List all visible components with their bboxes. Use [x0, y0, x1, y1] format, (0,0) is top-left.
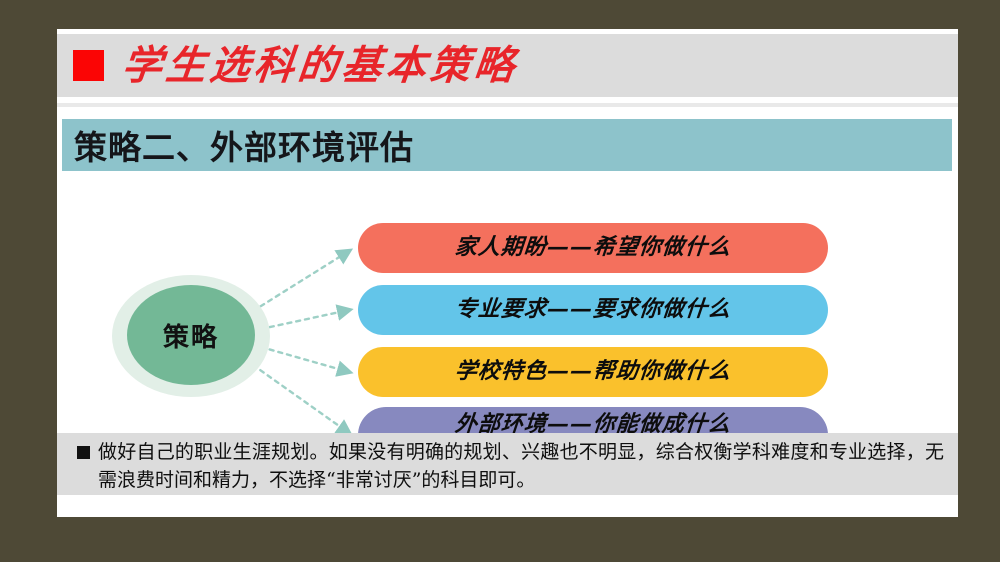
section-subtitle-text: 策略二、外部环境评估	[74, 121, 414, 169]
slide-frame: 学生选科的基本策略 策略二、外部环境评估	[0, 0, 1000, 562]
section-subtitle-bar: 策略二、外部环境评估	[62, 119, 952, 171]
branch-label: 学校特色——帮助你做什么	[454, 360, 732, 383]
red-square-bullet-icon	[73, 50, 104, 81]
center-node-strategy[interactable]: 策略	[127, 285, 255, 385]
footer-note-text: 做好自己的职业生涯规划。如果没有明确的规划、兴趣也不明显，综合权衡学科难度和专业…	[98, 433, 958, 494]
black-square-bullet-icon	[77, 446, 90, 459]
branch-label: 家人期盼——希望你做什么	[454, 236, 732, 259]
footer-note: 做好自己的职业生涯规划。如果没有明确的规划、兴趣也不明显，综合权衡学科难度和专业…	[57, 433, 958, 495]
branch-label: 专业要求——要求你做什么	[454, 298, 732, 321]
slide-canvas: 学生选科的基本策略 策略二、外部环境评估	[57, 29, 958, 517]
strategy-diagram: 策略 家人期盼——希望你做什么 专业要求——要求你做什么 学校特色——帮助你做什…	[57, 179, 958, 459]
title-divider	[57, 103, 958, 107]
page-title: 学生选科的基本策略	[120, 46, 520, 86]
branch-pill-school-feature[interactable]: 学校特色——帮助你做什么	[358, 347, 828, 397]
center-node-label: 策略	[163, 317, 219, 354]
branch-pill-major-requirement[interactable]: 专业要求——要求你做什么	[358, 285, 828, 335]
slide-title-band: 学生选科的基本策略	[57, 34, 958, 97]
branch-pill-family-expectation[interactable]: 家人期盼——希望你做什么	[358, 223, 828, 273]
